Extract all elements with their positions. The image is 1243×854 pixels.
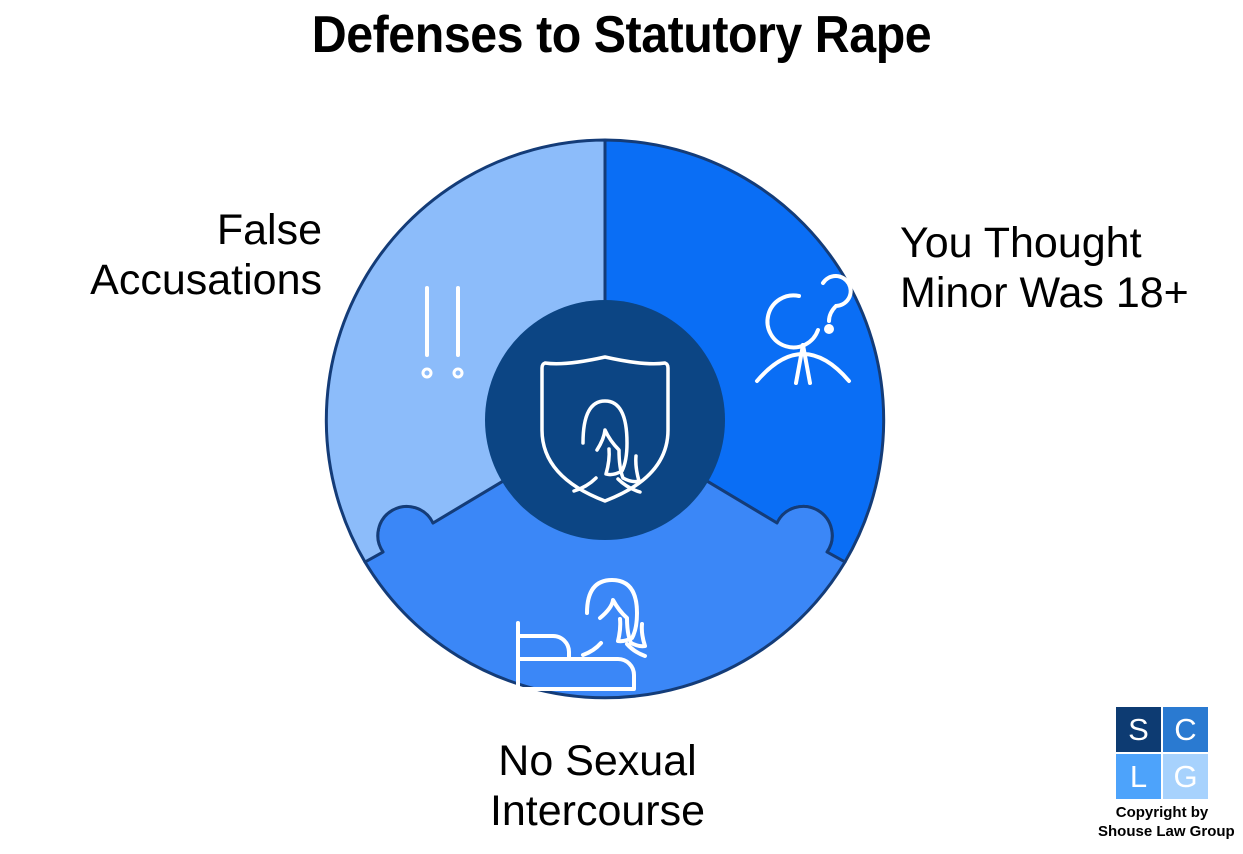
infographic-canvas: Defenses to Statutory Rape False Accusat… (0, 0, 1243, 854)
segment-label-line-1: You Thought (900, 218, 1189, 268)
segment-label-line-1: No Sexual (0, 736, 1219, 786)
logo-grid: S C L G (1116, 707, 1208, 799)
copyright-line-1: Copyright by (1098, 803, 1226, 822)
jigsaw-svg (318, 133, 892, 707)
logo-cell-c: C (1163, 707, 1208, 752)
segment-label-line-2: Minor Was 18+ (900, 268, 1189, 318)
copyright-caption: Copyright by Shouse Law Group (1098, 803, 1226, 841)
center-hub-circle[interactable] (485, 300, 725, 540)
segment-label-line-2: Intercourse (0, 786, 1219, 836)
segment-label-line-2: Accusations (90, 255, 322, 305)
shouse-law-group-logo: S C L G Copyright by Shouse Law Group (1098, 707, 1226, 841)
segment-label-false-accusations: False Accusations (90, 205, 322, 305)
logo-cell-g: G (1163, 754, 1208, 799)
segment-label-no-sexual-intercourse: No Sexual Intercourse (0, 736, 1219, 836)
logo-cell-l: L (1116, 754, 1161, 799)
segment-label-thought-minor-was-adult: You Thought Minor Was 18+ (900, 218, 1189, 318)
logo-cell-s: S (1116, 707, 1161, 752)
jigsaw-circle-diagram (318, 133, 892, 707)
segment-label-line-1: False (90, 205, 322, 255)
copyright-line-2: Shouse Law Group (1098, 822, 1226, 841)
page-title: Defenses to Statutory Rape (44, 4, 1200, 66)
